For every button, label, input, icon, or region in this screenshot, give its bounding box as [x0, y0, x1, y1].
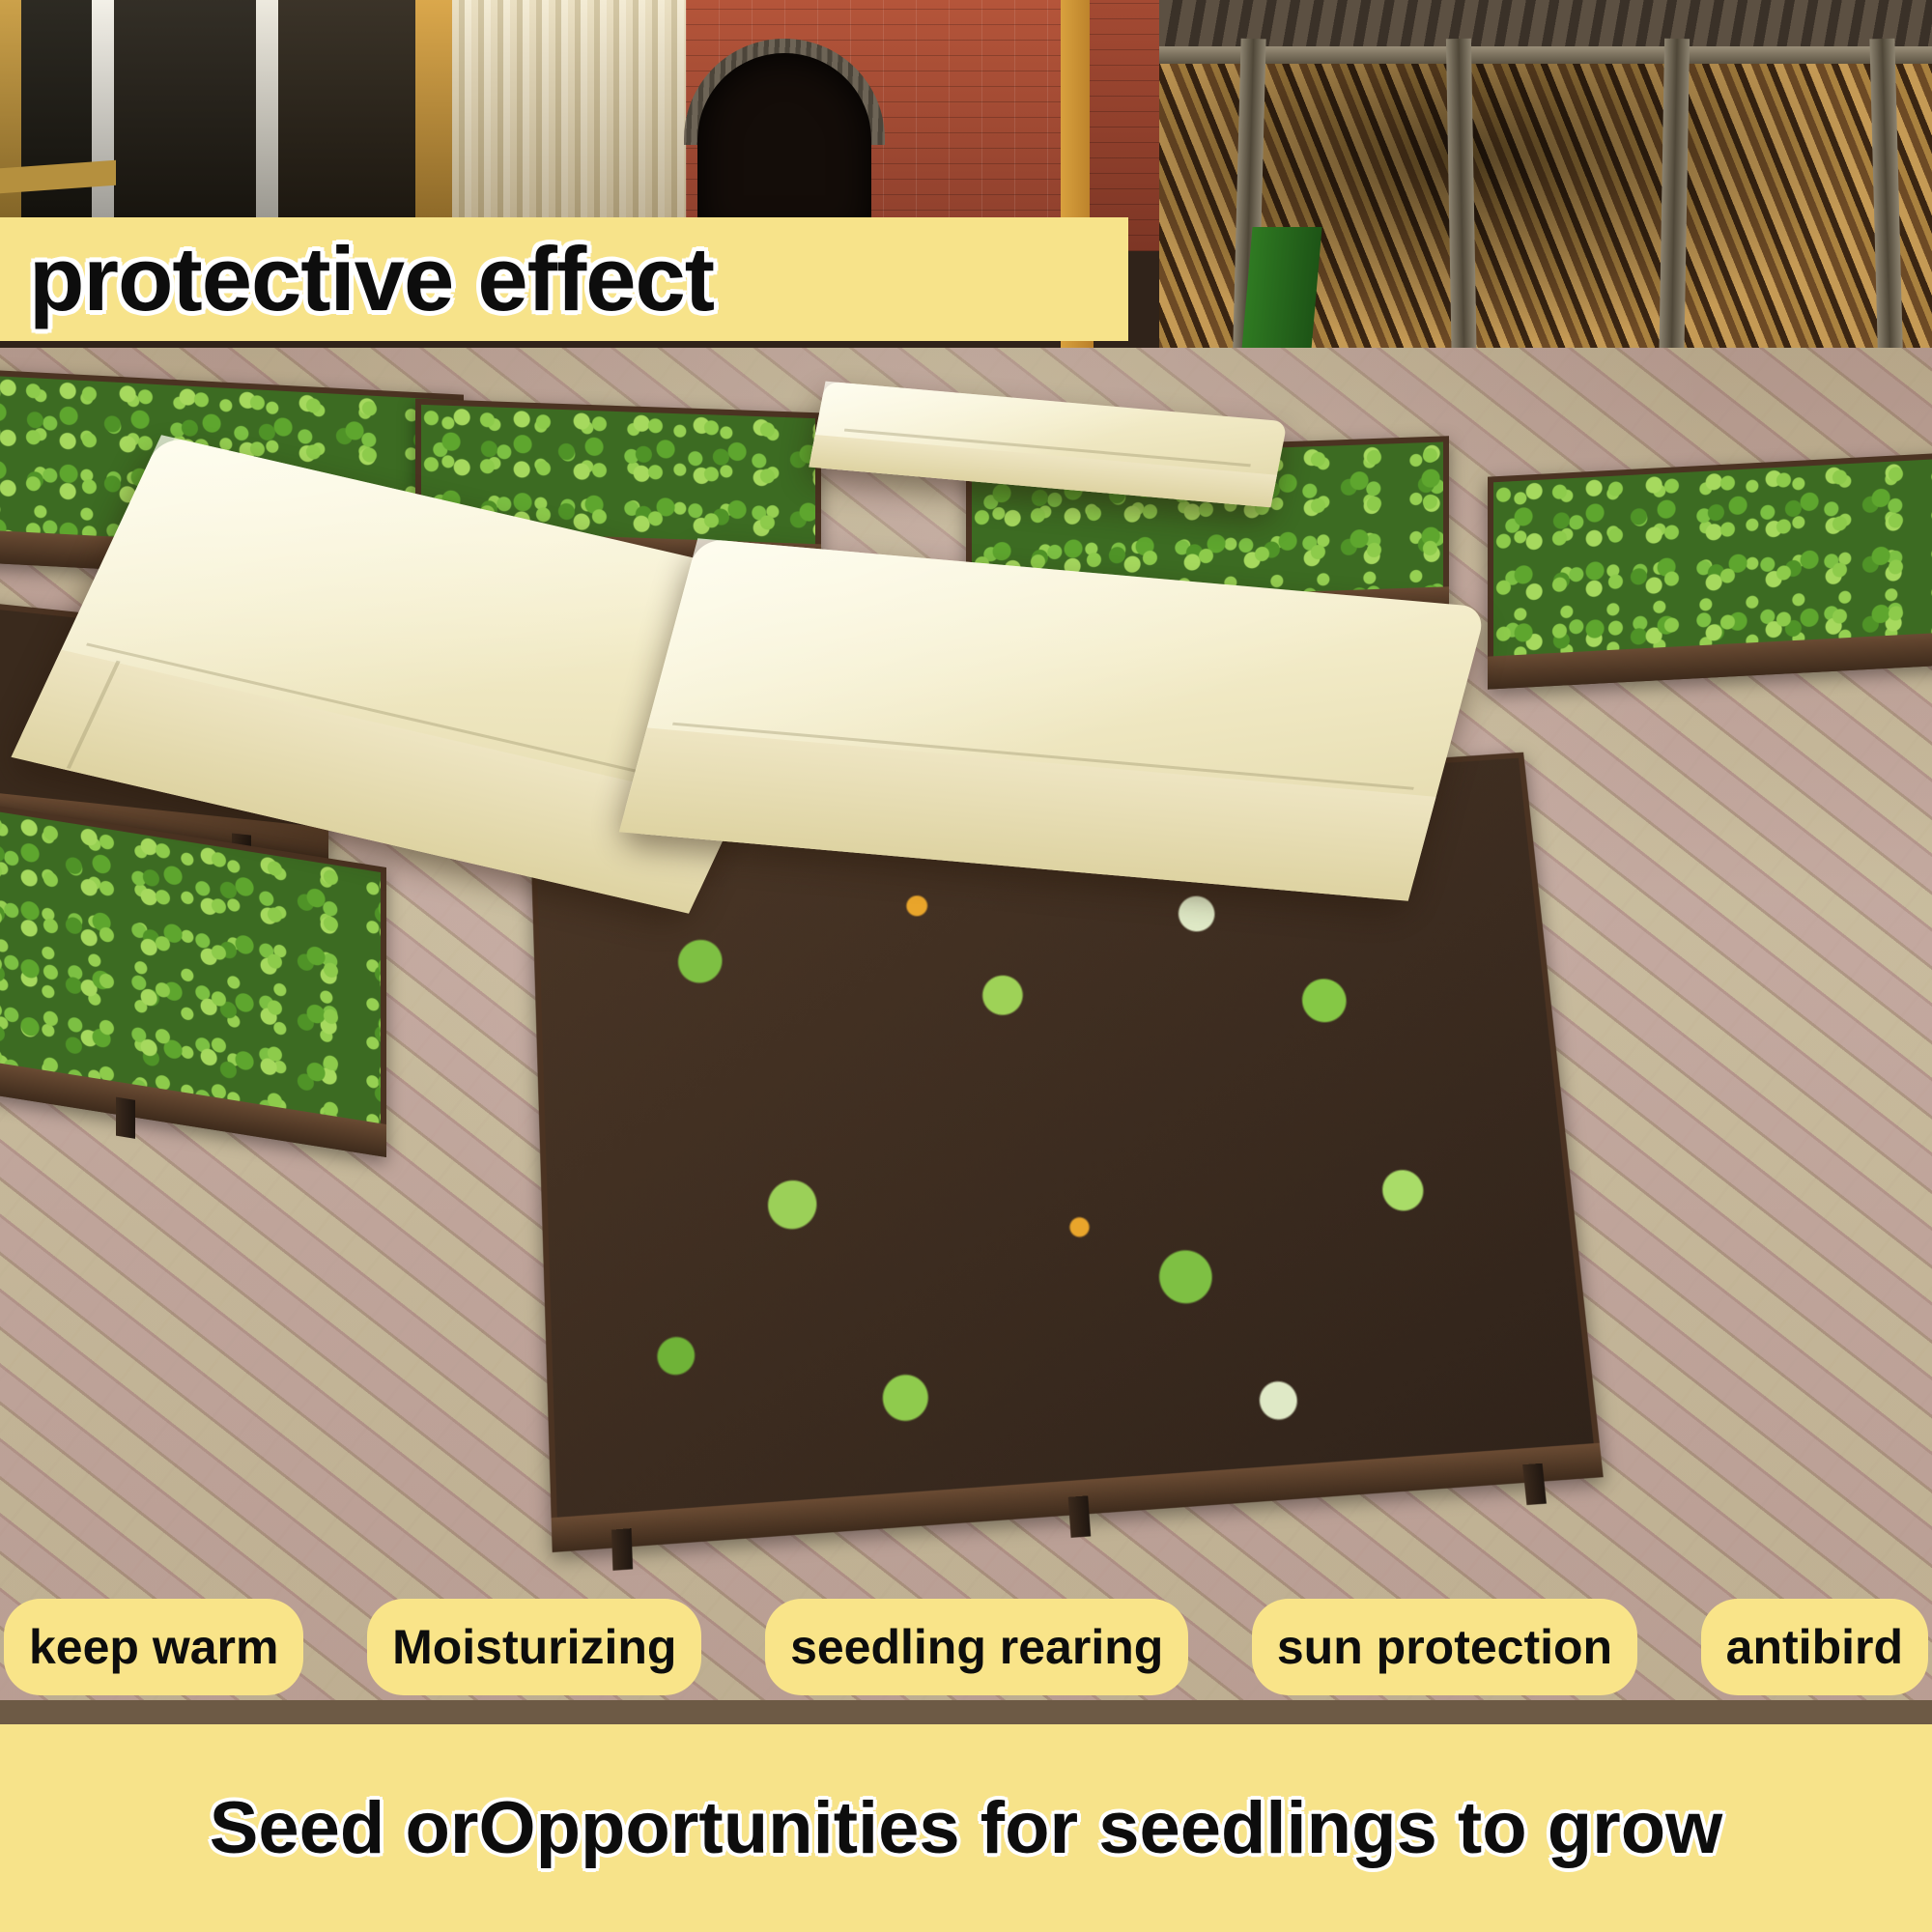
feature-pill-row: keep warm Moisturizing seedling rearing …	[0, 1599, 1932, 1695]
feature-pill-antibird[interactable]: antibird	[1701, 1599, 1928, 1695]
feature-pill-keep-warm[interactable]: keep warm	[4, 1599, 303, 1695]
bed-leg	[611, 1528, 633, 1571]
bed-leg	[1522, 1463, 1547, 1505]
brick-oven-opening	[697, 53, 871, 241]
shed-beam	[1159, 46, 1932, 64]
beige-siding	[452, 0, 694, 232]
feature-pill-sun-protection[interactable]: sun protection	[1252, 1599, 1637, 1695]
footer-banner: Seed orOpportunities for seedlings to gr…	[0, 1724, 1932, 1932]
bed-leg	[1068, 1495, 1091, 1538]
feature-pill-moisturizing[interactable]: Moisturizing	[367, 1599, 701, 1695]
raised-bed-far-right	[1488, 450, 1932, 689]
bed-greens	[1493, 457, 1932, 665]
shed-roof	[1159, 0, 1932, 53]
glass-doors	[0, 0, 454, 222]
page-title: protective effect	[29, 234, 714, 325]
feature-pill-seedling-rearing[interactable]: seedling rearing	[765, 1599, 1188, 1695]
bed-leg	[116, 1097, 135, 1139]
title-banner: protective effect	[0, 217, 1128, 341]
product-marketing-image: protective effect keep warm Moisturizing…	[0, 0, 1932, 1932]
footer-caption: Seed orOpportunities for seedlings to gr…	[210, 1786, 1723, 1870]
